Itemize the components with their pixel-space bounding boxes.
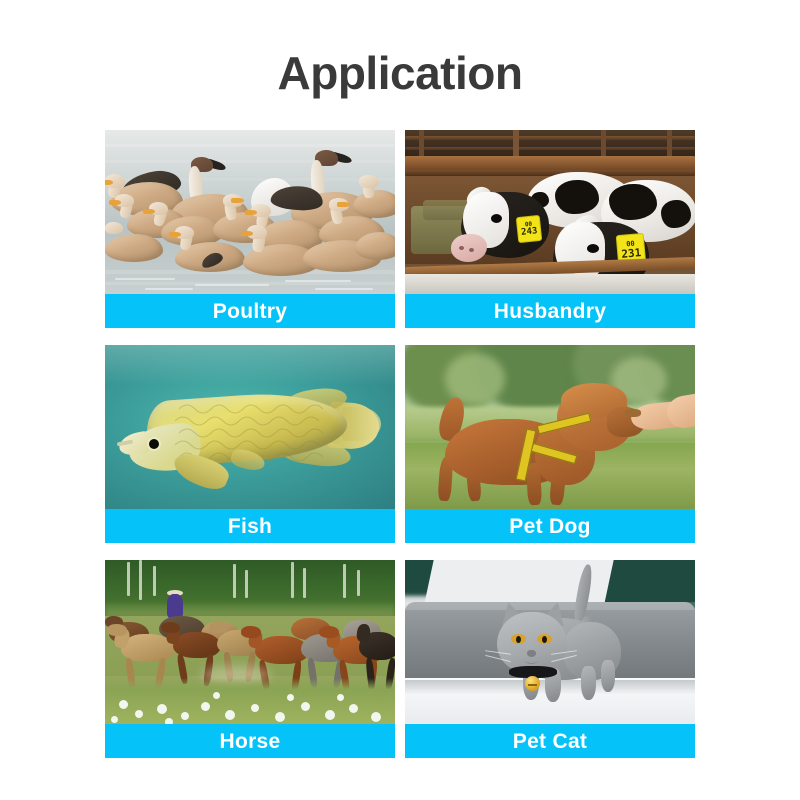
ear-tag-left: 00 243 xyxy=(516,215,543,243)
application-card-husbandry[interactable]: 00 243 00 231 xyxy=(405,130,695,328)
horse-label-bar: Horse xyxy=(105,724,395,758)
pet-dog-label-bar: Pet Dog xyxy=(405,509,695,543)
poultry-label: Poultry xyxy=(213,301,287,322)
application-card-pet-dog[interactable]: Pet Dog xyxy=(405,345,695,543)
poultry-photo xyxy=(105,130,395,294)
pet-cat-photo xyxy=(405,560,695,724)
application-cards-grid: Poultry xyxy=(105,130,695,758)
husbandry-label-bar: Husbandry xyxy=(405,294,695,328)
husbandry-photo: 00 243 00 231 xyxy=(405,130,695,294)
fish-label-bar: Fish xyxy=(105,509,395,543)
horse-photo xyxy=(105,560,395,724)
poultry-label-bar: Poultry xyxy=(105,294,395,328)
application-card-horse[interactable]: Horse xyxy=(105,560,395,758)
fish-photo xyxy=(105,345,395,509)
horse-label: Horse xyxy=(219,731,280,752)
fish-scales xyxy=(175,397,345,463)
pet-cat-label-bar: Pet Cat xyxy=(405,724,695,758)
fish-label: Fish xyxy=(228,516,272,537)
application-card-pet-cat[interactable]: Pet Cat xyxy=(405,560,695,758)
ear-tag-left-line2: 243 xyxy=(521,227,538,238)
pet-cat-label: Pet Cat xyxy=(513,731,587,752)
application-page: Application xyxy=(0,0,800,800)
application-card-fish[interactable]: Fish xyxy=(105,345,395,543)
husbandry-label: Husbandry xyxy=(494,301,606,322)
application-card-poultry[interactable]: Poultry xyxy=(105,130,395,328)
page-title: Application xyxy=(0,46,800,100)
pet-dog-photo xyxy=(405,345,695,509)
pet-dog-label: Pet Dog xyxy=(509,516,590,537)
